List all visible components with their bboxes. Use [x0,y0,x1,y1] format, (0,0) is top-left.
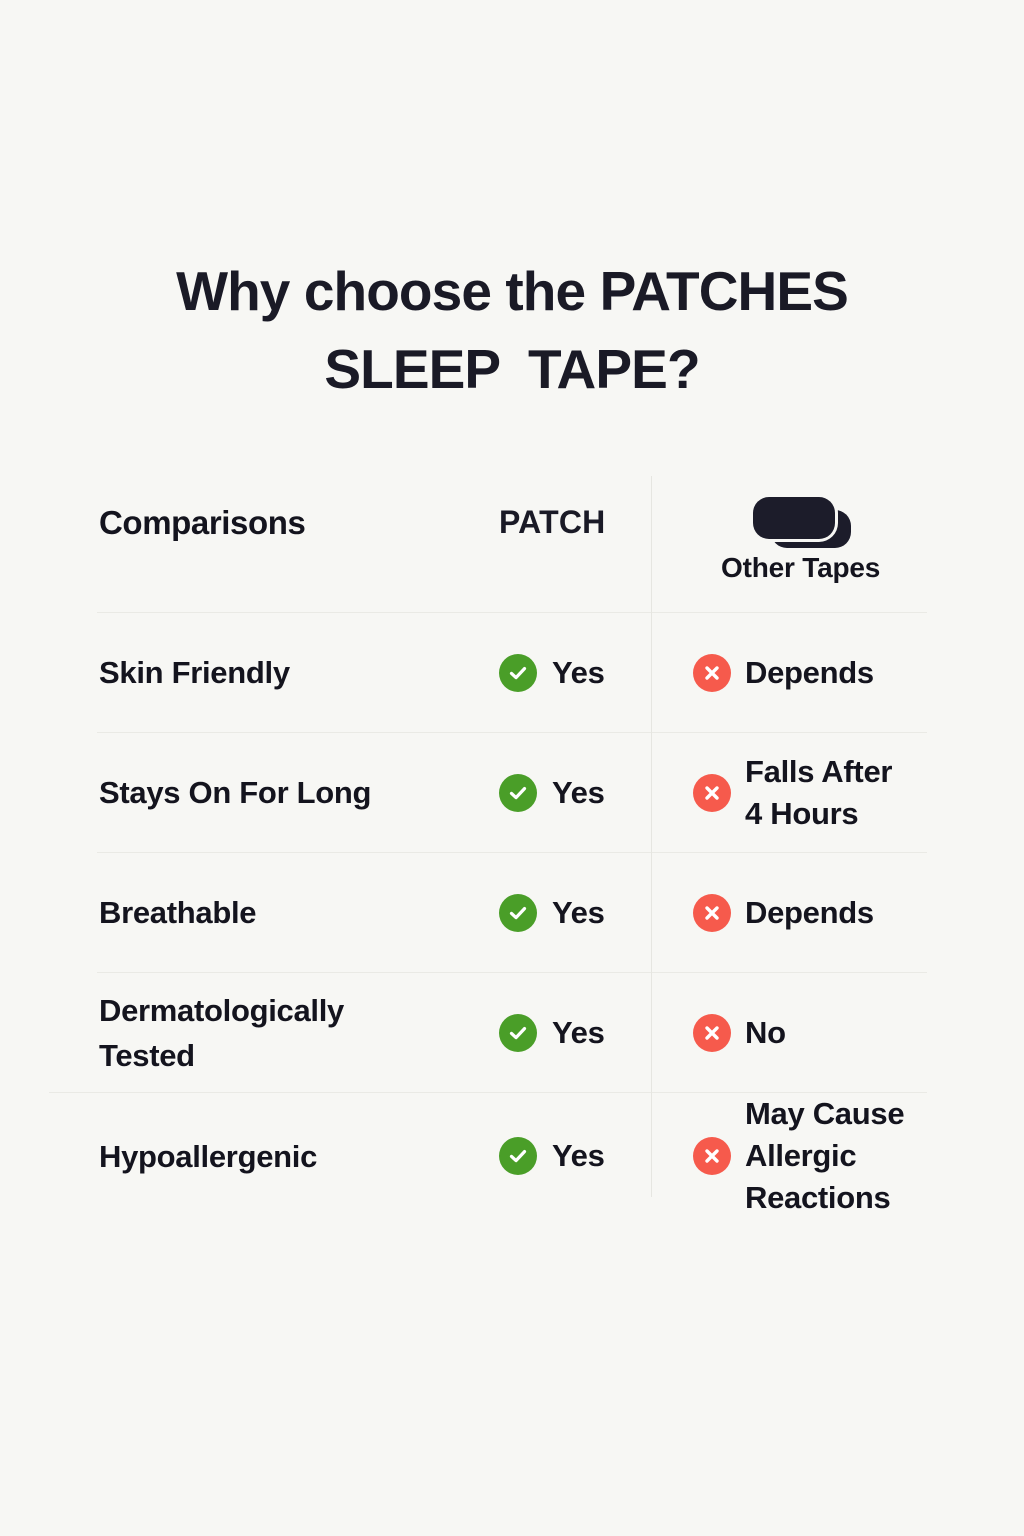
patch-verdict-text: Yes [552,1135,605,1177]
x-circle-icon [693,774,731,812]
feature-label: Stays On For Long [99,770,453,815]
header-label-patch: PATCH [499,504,605,541]
header-cell-patch: PATCH [453,492,651,541]
table-row: DermatologicallyTestedYesNo [97,973,927,1092]
header-cell-other-tapes: Other Tapes [651,492,927,584]
cell-feature: Hypoallergenic [97,1134,453,1179]
header-label-other-tapes: Other Tapes [721,552,880,584]
cell-patch-verdict: Yes [453,1012,651,1054]
x-circle-icon [693,894,731,932]
cell-patch-verdict: Yes [453,892,651,934]
cell-feature: Breathable [97,890,453,935]
table-row: HypoallergenicYesMay CauseAllergicReacti… [97,1093,927,1219]
check-circle-icon [499,774,537,812]
check-circle-icon [499,1014,537,1052]
comparison-table: Comparisons PATCH Other Tapes Skin Frien… [97,460,927,1219]
other-verdict-text: Falls After4 Hours [745,751,892,835]
x-circle-icon [693,1014,731,1052]
stacked-tape-strips-icon [751,492,851,550]
table-row: BreathableYesDepends [97,853,927,972]
other-verdict-text: May CauseAllergicReactions [745,1093,904,1219]
patch-verdict-text: Yes [552,892,605,934]
cell-other-verdict: May CauseAllergicReactions [651,1093,927,1219]
title-line-1: Why choose the PATCHES [82,252,942,330]
feature-label: Breathable [99,890,453,935]
x-circle-icon [693,654,731,692]
table-row: Stays On For LongYesFalls After4 Hours [97,733,927,852]
cell-feature: Stays On For Long [97,770,453,815]
patch-verdict-text: Yes [552,1012,605,1054]
cell-feature: Skin Friendly [97,650,453,695]
patch-verdict-text: Yes [552,652,605,694]
feature-label: Skin Friendly [99,650,453,695]
tape-strip-front [753,497,835,539]
check-circle-icon [499,1137,537,1175]
cell-other-verdict: Depends [651,652,927,694]
cell-other-verdict: No [651,1012,927,1054]
cell-patch-verdict: Yes [453,772,651,814]
cell-other-verdict: Falls After4 Hours [651,751,927,835]
table-header-row: Comparisons PATCH Other Tapes [97,460,927,612]
other-verdict-text: Depends [745,652,874,694]
header-cell-comparisons: Comparisons [97,492,453,542]
patch-verdict-text: Yes [552,772,605,814]
header-label-comparisons: Comparisons [99,504,453,542]
cell-patch-verdict: Yes [453,652,651,694]
table-body: Skin FriendlyYesDependsStays On For Long… [97,613,927,1219]
other-verdict-text: Depends [745,892,874,934]
x-circle-icon [693,1137,731,1175]
check-circle-icon [499,654,537,692]
comparison-infographic: Why choose the PATCHES SLEEP TAPE? Compa… [0,0,1024,1536]
check-circle-icon [499,894,537,932]
cell-feature: DermatologicallyTested [97,988,453,1078]
feature-label: DermatologicallyTested [99,988,453,1078]
cell-patch-verdict: Yes [453,1135,651,1177]
title-line-2: SLEEP TAPE? [82,330,942,408]
feature-label: Hypoallergenic [99,1134,453,1179]
page-title: Why choose the PATCHES SLEEP TAPE? [82,252,942,408]
table-row: Skin FriendlyYesDepends [97,613,927,732]
other-verdict-text: No [745,1012,786,1054]
cell-other-verdict: Depends [651,892,927,934]
